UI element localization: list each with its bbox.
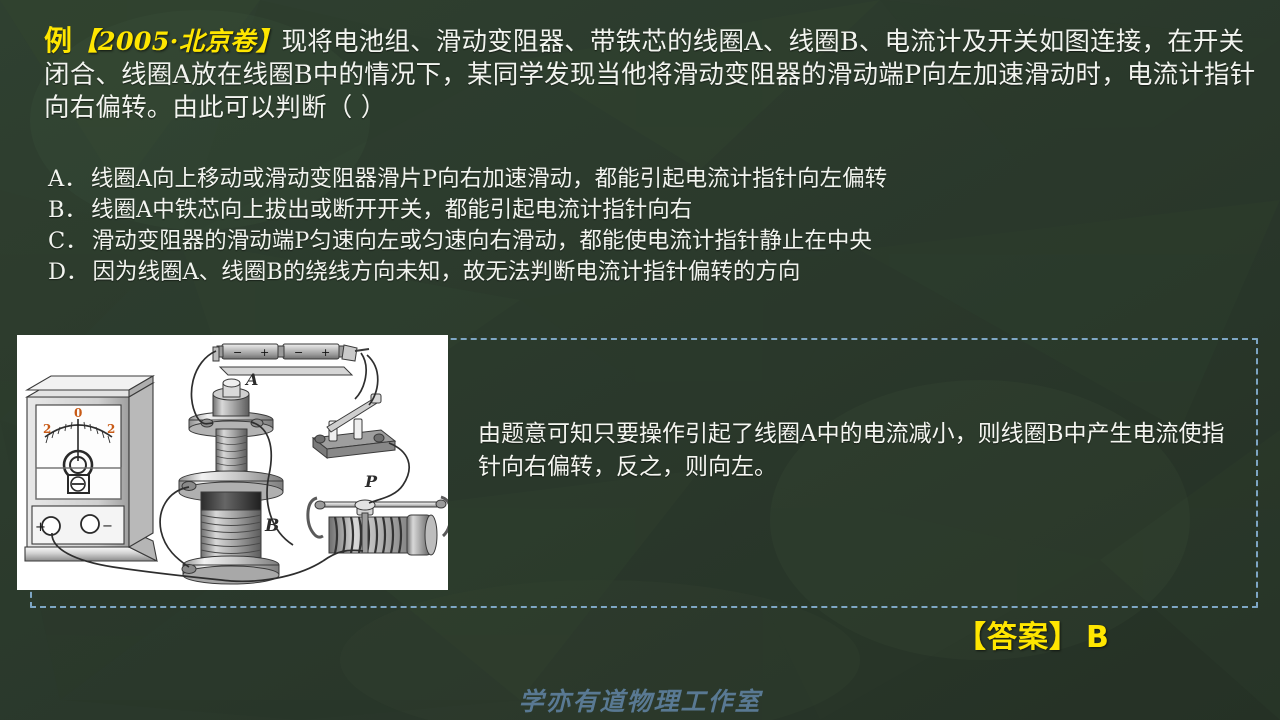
- coil-a-label: A: [244, 370, 258, 389]
- slide-root: 例【2005·北京卷】现将电池组、滑动变阻器、带铁芯的线圈A、线圈B、电流计及开…: [0, 0, 1280, 720]
- option-b-key: B．: [48, 197, 87, 223]
- options-list: A．线圈A向上移动或滑动变阻器滑片P向右加速滑动，都能引起电流计指针向左偏转 B…: [48, 164, 1263, 288]
- option-d[interactable]: D．因为线圈A、线圈B的绕线方向未知，故无法判断电流计指针偏转的方向: [48, 257, 1263, 288]
- option-a-text: 线圈A向上移动或滑动变阻器滑片P向右加速滑动，都能引起电流计指针向左偏转: [91, 166, 887, 192]
- answer-value: B: [1086, 620, 1110, 655]
- option-d-key: D．: [48, 259, 89, 285]
- battery-cell2-positive-label: +: [321, 346, 330, 359]
- option-c[interactable]: C．滑动变阻器的滑动端P匀速向左或匀速向右滑动，都能使电流计指针静止在中央: [48, 226, 1263, 257]
- option-b[interactable]: B．线圈A中铁芯向上拔出或断开开关，都能引起电流计指针向右: [48, 195, 1263, 226]
- rheostat: [308, 497, 448, 555]
- galvanometer-negative-terminal-label: −: [102, 519, 113, 534]
- battery-cell1-negative-label: −: [233, 346, 242, 359]
- explanation-text: 由题意可知只要操作引起了线圈A中的电流减小，则线圈B中产生电流使指针向右偏转，反…: [478, 418, 1238, 484]
- circuit-diagram-figure: 2 0 2 + − − + − +: [17, 335, 448, 590]
- battery-cell1-positive-label: +: [260, 346, 269, 359]
- option-a[interactable]: A．线圈A向上移动或滑动变阻器滑片P向右加速滑动，都能引起电流计指针向左偏转: [48, 164, 1263, 195]
- watermark-text: 学亦有道物理工作室: [0, 682, 1280, 718]
- question-label-prefix: 例: [44, 24, 72, 57]
- option-a-key: A．: [48, 166, 87, 192]
- option-c-key: C．: [48, 228, 88, 254]
- answer-block: 【答案】B: [956, 612, 1110, 656]
- galvanometer-scale-right-label: 2: [107, 422, 115, 436]
- option-c-text: 滑动变阻器的滑动端P匀速向左或匀速向右滑动，都能使电流计指针静止在中央: [92, 228, 872, 254]
- answer-label-text: 【答案】: [956, 620, 1080, 655]
- option-d-text: 因为线圈A、线圈B的绕线方向未知，故无法判断电流计指针偏转的方向: [93, 259, 801, 285]
- exam-source-tag: 【2005·北京卷】: [72, 27, 281, 57]
- galvanometer-scale-zero-label: 0: [74, 406, 82, 420]
- galvanometer-positive-terminal-label: +: [35, 520, 46, 535]
- option-b-text: 线圈A中铁芯向上拔出或断开开关，都能引起电流计指针向右: [91, 197, 692, 223]
- question-block: 例【2005·北京卷】现将电池组、滑动变阻器、带铁芯的线圈A、线圈B、电流计及开…: [44, 24, 1264, 125]
- rheostat-slider-label: P: [364, 472, 378, 491]
- battery-cell2-negative-label: −: [294, 346, 303, 359]
- galvanometer-scale-left-label: 2: [43, 422, 51, 436]
